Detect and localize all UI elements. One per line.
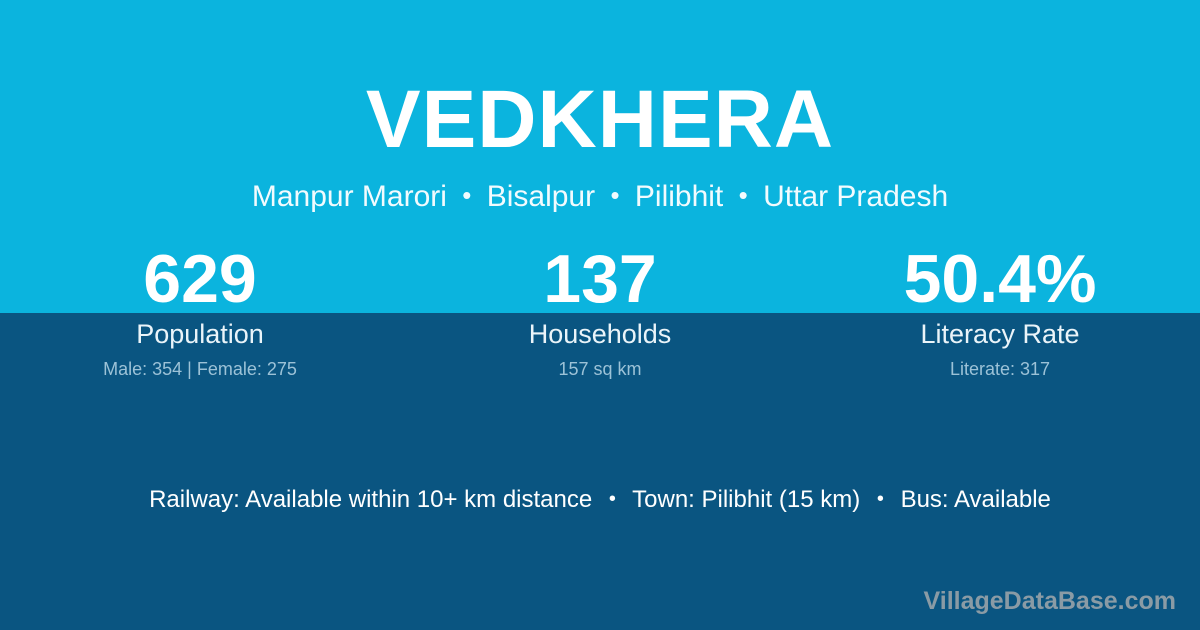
stat-value: 137 — [400, 245, 800, 313]
stat-sublabel: Literate: 317 — [800, 358, 1200, 380]
amenity-bus: Bus: Available — [901, 486, 1051, 513]
breadcrumb-separator: • — [455, 180, 478, 210]
stat-population: 629 Population Male: 354 | Female: 275 — [0, 245, 400, 380]
breadcrumb-item-state: Uttar Pradesh — [763, 180, 948, 213]
amenity-railway: Railway: Available within 10+ km distanc… — [149, 486, 592, 513]
stat-literacy-rate: 50.4% Literacy Rate Literate: 317 — [800, 245, 1200, 380]
amenity-separator: • — [599, 488, 626, 510]
breadcrumb-item-tehsil: Bisalpur — [487, 180, 595, 213]
stat-value: 629 — [0, 245, 400, 313]
stat-sublabel: 157 sq km — [400, 358, 800, 380]
stat-households: 137 Households 157 sq km — [400, 245, 800, 380]
breadcrumb-separator: • — [732, 180, 755, 210]
amenity-town: Town: Pilibhit (15 km) — [632, 486, 860, 513]
breadcrumb-item-district: Pilibhit — [635, 180, 723, 213]
amenities-line: Railway: Available within 10+ km distanc… — [0, 484, 1200, 515]
breadcrumb-item-block: Manpur Marori — [252, 180, 447, 213]
amenity-separator: • — [867, 488, 894, 510]
stats-row: 629 Population Male: 354 | Female: 275 1… — [0, 245, 1200, 380]
site-watermark: VillageDataBase.com — [924, 586, 1176, 616]
stat-sublabel: Male: 354 | Female: 275 — [0, 358, 400, 380]
village-info-card: VEDKHERA Manpur Marori • Bisalpur • Pili… — [0, 0, 1200, 630]
stat-label: Population — [0, 319, 400, 349]
breadcrumb: Manpur Marori • Bisalpur • Pilibhit • Ut… — [0, 161, 1200, 214]
stat-label: Households — [400, 319, 800, 349]
stat-value: 50.4% — [800, 245, 1200, 313]
stat-label: Literacy Rate — [800, 319, 1200, 349]
breadcrumb-separator: • — [603, 180, 626, 210]
page-title: VEDKHERA — [0, 0, 1200, 161]
card-header: VEDKHERA Manpur Marori • Bisalpur • Pili… — [0, 0, 1200, 214]
